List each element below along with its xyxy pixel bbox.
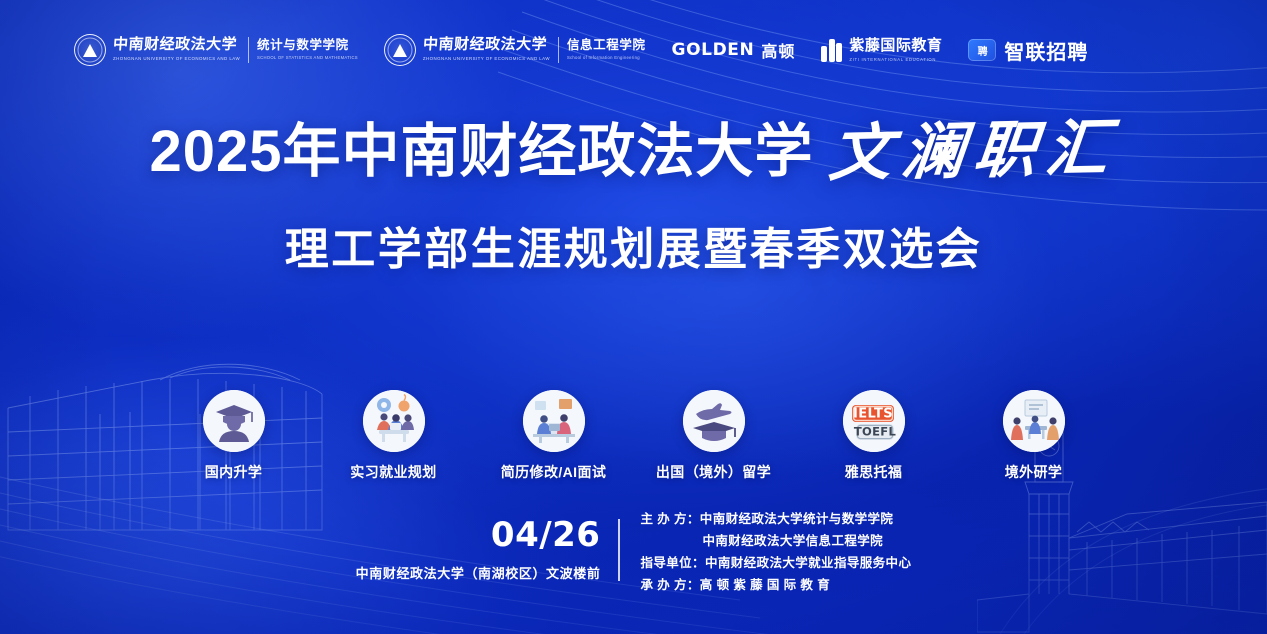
organizer-list: 主 办 方：中南财经政法大学统计与数学学院 中南财经政法大学信息工程学院 指导单… [620,508,911,593]
university-name-cn: 中南财经政法大学 [422,38,550,54]
page-subtitle: 理工学部生涯规划展暨春季双选会 [0,228,1267,272]
university-crest-icon [74,34,106,66]
logo-ziteng: 紫藤国际教育 ZITI INTERNATIONAL EDUCATION [821,38,942,62]
service-item-domestic-study[interactable]: 国内升学 [175,390,293,482]
svg-text:TOEFL: TOEFL [853,425,896,439]
title-row: 2025年中南财经政法大学 文澜职汇 [0,112,1267,192]
university-name-block: 中南财经政法大学 ZHONGNAN UNIVERSITY OF ECONOMIC… [113,38,240,61]
interview-desk-icon [523,390,585,452]
ziteng-name-cn: 紫藤国际教育 [849,38,942,55]
service-label: 国内升学 [205,462,263,482]
school-name-cn: 信息工程学院 [567,39,646,53]
service-label: 雅思托福 [845,462,903,482]
service-item-overseas-study[interactable]: 出国（境外）留学 [655,390,773,482]
logo-golden: GOLDEN 高顿 [672,38,796,62]
university-name-cn: 中南财经政法大学 [112,38,240,54]
guidance-unit-line: 指导单位：中南财经政法大学就业指导服务中心 [640,552,911,571]
svg-text:IELTS: IELTS [852,407,892,422]
ziteng-bars-icon [821,39,842,62]
service-label: 境外研学 [1005,462,1063,482]
airplane-graduation-cap-icon [683,390,745,452]
classroom-study-icon [1003,390,1065,452]
page-title: 2025年中南财经政法大学 [149,123,813,181]
ziteng-name-block: 紫藤国际教育 ZITI INTERNATIONAL EDUCATION [849,38,942,62]
logo-divider [248,37,249,63]
logo-cuel-information-engineering: 中南财经政法大学 ZHONGNAN UNIVERSITY OF ECONOMIC… [384,30,646,70]
footer-info: 04/26 中南财经政法大学（南湖校区）文波楼前 主 办 方：中南财经政法大学统… [0,510,1267,590]
university-name-en: ZHONGNAN UNIVERSITY OF ECONOMICS AND LAW [423,56,550,62]
service-label: 简历修改/AI面试 [501,462,607,482]
service-item-internship-planning[interactable]: 实习就业规划 [335,390,453,482]
team-meeting-icon [363,390,425,452]
zhilian-badge-icon: 聘 [968,39,996,61]
school-name-en: School of Information Engineering [567,55,646,60]
organizer-line: 中南财经政法大学信息工程学院 [640,530,911,549]
golden-wordmark-en: GOLDEN [672,40,755,60]
event-datetime-venue: 04/26 中南财经政法大学（南湖校区）文波楼前 [356,518,619,582]
school-name-block: 信息工程学院 School of Information Engineering [567,39,646,60]
co-organizer-line: 承 办 方：高 顿 紫 藤 国 际 教 育 [640,574,911,593]
zhilian-name-cn: 智联招聘 [1004,36,1088,65]
event-date: 04/26 [491,518,601,552]
graduate-cap-person-icon [203,390,265,452]
organizer-line: 主 办 方：中南财经政法大学统计与数学学院 [640,508,911,527]
event-venue: 中南财经政法大学（南湖校区）文波楼前 [356,563,601,582]
service-item-ielts-toefl[interactable]: IELTS TOEFL 雅思托福 [815,390,933,482]
logo-zhilian: 聘 智联招聘 [968,36,1088,65]
golden-wordmark-cn: 高顿 [761,38,795,62]
sponsor-logo-bar: 中南财经政法大学 ZHONGNAN UNIVERSITY OF ECONOMIC… [74,28,1207,72]
university-name-block: 中南财经政法大学 ZHONGNAN UNIVERSITY OF ECONOMIC… [423,38,550,61]
logo-divider [558,37,559,63]
school-name-cn: 统计与数学学院 [257,39,358,53]
title-calligraphy: 文澜职汇 [826,118,1121,186]
service-label: 实习就业规划 [350,462,436,482]
logo-cuel-statistics: 中南财经政法大学 ZHONGNAN UNIVERSITY OF ECONOMIC… [74,30,358,70]
ziteng-name-en: ZITI INTERNATIONAL EDUCATION [849,57,942,62]
university-name-en: ZHONGNAN UNIVERSITY OF ECONOMICS AND LAW [113,56,240,62]
school-name-en: SCHOOL OF STATISTICS AND MATHEMATICS [257,55,358,60]
university-crest-icon [384,34,416,66]
service-item-overseas-research[interactable]: 境外研学 [975,390,1093,482]
school-name-block: 统计与数学学院 SCHOOL OF STATISTICS AND MATHEMA… [257,39,358,60]
service-list: 国内升学 [0,390,1267,490]
poster-canvas: 中南财经政法大学 ZHONGNAN UNIVERSITY OF ECONOMIC… [0,0,1267,634]
ielts-toefl-icon: IELTS TOEFL [843,390,905,452]
service-item-resume-ai-interview[interactable]: 简历修改/AI面试 [495,390,613,482]
service-label: 出国（境外）留学 [656,462,771,482]
